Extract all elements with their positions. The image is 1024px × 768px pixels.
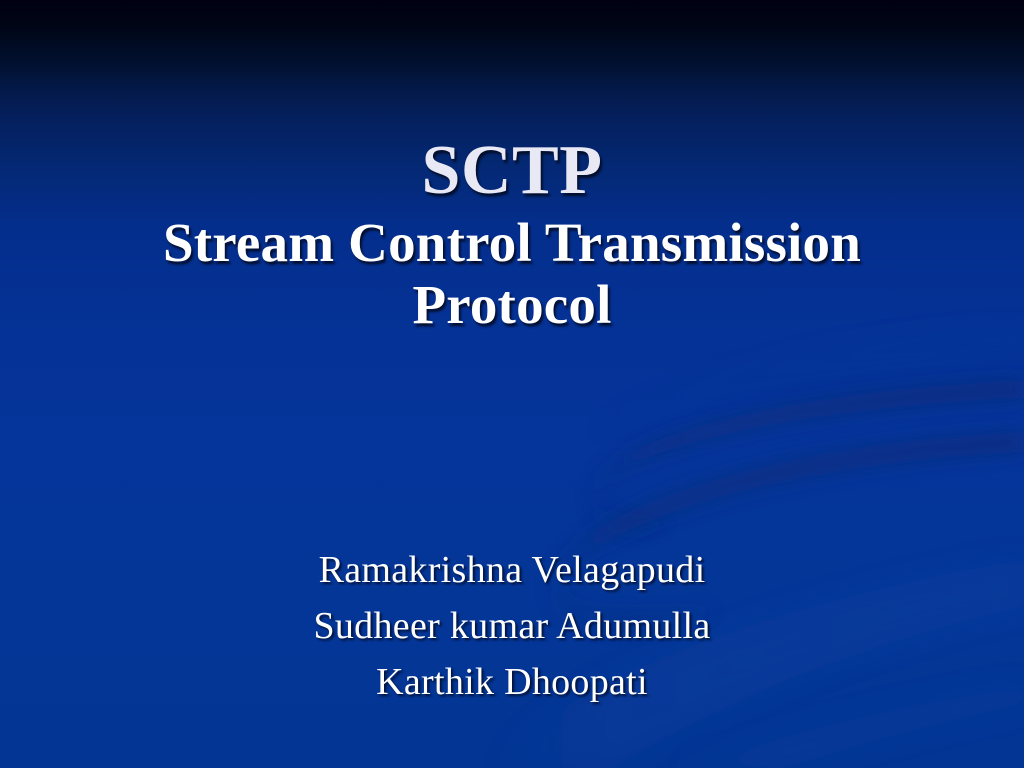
author-name: Sudheer kumar Adumulla — [112, 598, 912, 654]
slide-title: SCTP Stream Control Transmission Protoco… — [96, 136, 928, 335]
author-list: Ramakrishna Velagapudi Sudheer kumar Adu… — [112, 542, 912, 711]
swirl-band-upper — [583, 380, 1024, 530]
title-expansion: Stream Control Transmission Protocol — [96, 212, 928, 335]
title-slide: SCTP Stream Control Transmission Protoco… — [0, 0, 1024, 768]
author-name: Ramakrishna Velagapudi — [112, 542, 912, 598]
title-acronym: SCTP — [96, 136, 928, 206]
author-name: Karthik Dhoopati — [112, 654, 912, 710]
